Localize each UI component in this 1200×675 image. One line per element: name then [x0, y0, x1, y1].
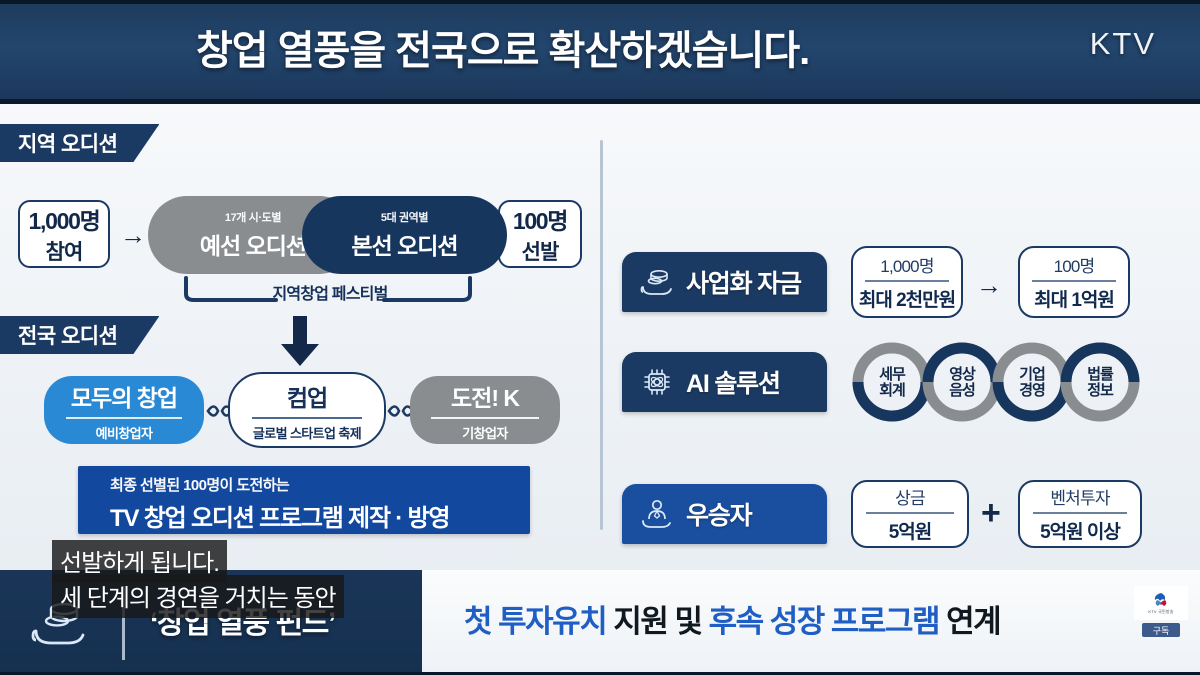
festival-label: 지역창업 페스티벌 — [230, 280, 430, 304]
stage-final-sub: 5대 권역별 — [381, 209, 428, 225]
fund-box-100-bottom: 최대 1억원 — [1034, 285, 1114, 312]
subscribe-button[interactable]: 구독 — [1142, 623, 1180, 637]
subtitle-line-2: 세 단계의 경연을 거치는 동안 — [52, 575, 344, 618]
br-part-3: 후속 성장 프로그램 — [709, 604, 939, 639]
winner-invest-bottom: 5억원 이상 — [1040, 517, 1120, 544]
fund-arrow: → — [976, 272, 1002, 298]
participants-word: 참여 — [46, 236, 83, 266]
tv-program-banner: 최종 선별된 100명이 도전하는 TV 창업 오디션 프로그램 제작 · 방영 — [78, 466, 530, 534]
gov-logo[interactable]: KTV 국민방송 구독 — [1132, 586, 1190, 637]
ai-ring-4-line1: 법률 — [1087, 366, 1114, 383]
section-tag-regional: 지역 오디션 — [0, 124, 159, 162]
participants-count: 1,000명 — [29, 202, 100, 236]
winner-invest-box: 벤처투자 5억원 이상 — [1018, 480, 1142, 548]
fund-box-1000-rule — [865, 280, 949, 282]
stage-preliminary-sub: 17개 시·도별 — [225, 209, 281, 225]
taegeuk-mark: KTV 국민방송 — [1134, 586, 1188, 620]
stage-final: 5대 권역별 본선 오디션 — [302, 196, 507, 274]
node-modu-changeop: 모두의 창업 예비창업자 — [44, 376, 204, 444]
bottom-right-bar: 첫 투자유치 지원 및 후속 성장 프로그램 연계 KTV 국민방송 구독 — [422, 570, 1200, 675]
ai-ring-group: 세무 회계 영상 음성 기업 경영 법률 정보 — [850, 340, 1140, 424]
winner-medal-icon — [640, 497, 674, 531]
ai-ring-3-line2: 경영 — [1019, 381, 1045, 399]
card-business-fund: 사업화 자금 — [622, 252, 827, 312]
stage-preliminary-main: 예선 오디션 — [200, 227, 306, 261]
ai-ring-3-line1: 기업 — [1019, 366, 1045, 383]
ai-ring-4-line2: 정보 — [1087, 381, 1114, 399]
plus-sign: + — [981, 496, 1001, 530]
winner-prize-box: 상금 5억원 — [851, 480, 969, 548]
selected-word: 선발 — [522, 236, 559, 266]
card-winner-label: 우승자 — [686, 496, 751, 532]
fund-box-1000: 1,000명 최대 2천만원 — [851, 246, 963, 318]
section-tag-national: 전국 오디션 — [0, 316, 159, 354]
banner-line1: 최종 선별된 100명이 도전하는 — [110, 474, 530, 495]
fund-box-100-top: 100명 — [1054, 252, 1095, 277]
winner-prize-top: 상금 — [895, 484, 925, 509]
node-c-title: 도전! K — [451, 379, 519, 413]
banner-line2: TV 창업 오디션 프로그램 제작 · 방영 — [110, 498, 530, 533]
down-arrow-icon — [272, 316, 328, 368]
node-c-rule — [431, 417, 539, 419]
fund-box-1000-top: 1,000명 — [880, 252, 933, 277]
fund-box-100-rule — [1032, 280, 1116, 282]
br-part-1: 첫 투자유치 — [464, 604, 606, 639]
channel-logo: KTV — [1090, 26, 1156, 62]
card-ai-solution: AI 솔루션 — [622, 352, 827, 412]
participants-box: 1,000명 참여 — [18, 200, 110, 268]
broadcast-screen: 창업 열풍을 전국으로 확산하겠습니다. KTV 지역 오디션 1,000명 참… — [0, 0, 1200, 675]
winner-prize-rule — [866, 512, 955, 514]
selected-count: 100명 — [513, 202, 567, 236]
flow-arrow-1: → — [120, 222, 146, 248]
br-part-2: 지원 및 — [606, 604, 708, 639]
stage-final-main: 본선 오디션 — [351, 227, 457, 261]
node-b-subtitle: 글로벌 스타트업 축제 — [253, 423, 361, 442]
selected-box: 100명 선발 — [498, 200, 582, 268]
winner-invest-top: 벤처투자 — [1050, 484, 1109, 509]
node-comeup: 컴업 글로벌 스타트업 축제 — [228, 372, 386, 448]
page-title: 창업 열풍을 전국으로 확산하겠습니다. — [196, 20, 1036, 82]
gov-logo-caption: KTV 국민방송 — [1148, 609, 1173, 615]
ai-chip-icon — [640, 365, 674, 399]
card-ai-solution-label: AI 솔루션 — [686, 364, 780, 400]
main-panel: 지역 오디션 1,000명 참여 → 17개 시·도별 예선 오디션 5대 권역… — [0, 104, 1200, 570]
title-band: 창업 열풍을 전국으로 확산하겠습니다. KTV — [0, 0, 1200, 104]
bottom-right-text: 첫 투자유치 지원 및 후속 성장 프로그램 연계 — [464, 596, 1000, 641]
center-divider — [600, 140, 603, 530]
taegeuk-icon — [1152, 592, 1170, 608]
node-dojeon-k: 도전! K 기창업자 — [410, 376, 560, 444]
winner-invest-rule — [1033, 512, 1127, 514]
node-c-subtitle: 기창업자 — [462, 423, 507, 442]
fund-box-100: 100명 최대 1억원 — [1018, 246, 1130, 318]
node-b-title: 컴업 — [287, 379, 327, 413]
card-winner: 우승자 — [622, 484, 827, 544]
node-a-title: 모두의 창업 — [71, 379, 177, 413]
letterbox-top — [0, 0, 1200, 4]
fund-box-1000-bottom: 최대 2천만원 — [859, 285, 955, 312]
hand-coins-icon — [640, 265, 674, 299]
ai-ring-1-line1: 세무 — [879, 366, 906, 383]
ai-ring-1-line2: 회계 — [879, 382, 905, 399]
node-b-rule — [252, 417, 363, 419]
ai-ring-2-line2: 음성 — [949, 381, 975, 399]
ai-ring-2-line1: 영상 — [949, 365, 976, 383]
br-part-4: 연계 — [939, 604, 1000, 639]
node-a-rule — [66, 417, 181, 419]
winner-prize-bottom: 5억원 — [889, 517, 932, 544]
node-a-subtitle: 예비창업자 — [96, 423, 153, 442]
card-business-fund-label: 사업화 자금 — [686, 264, 801, 300]
